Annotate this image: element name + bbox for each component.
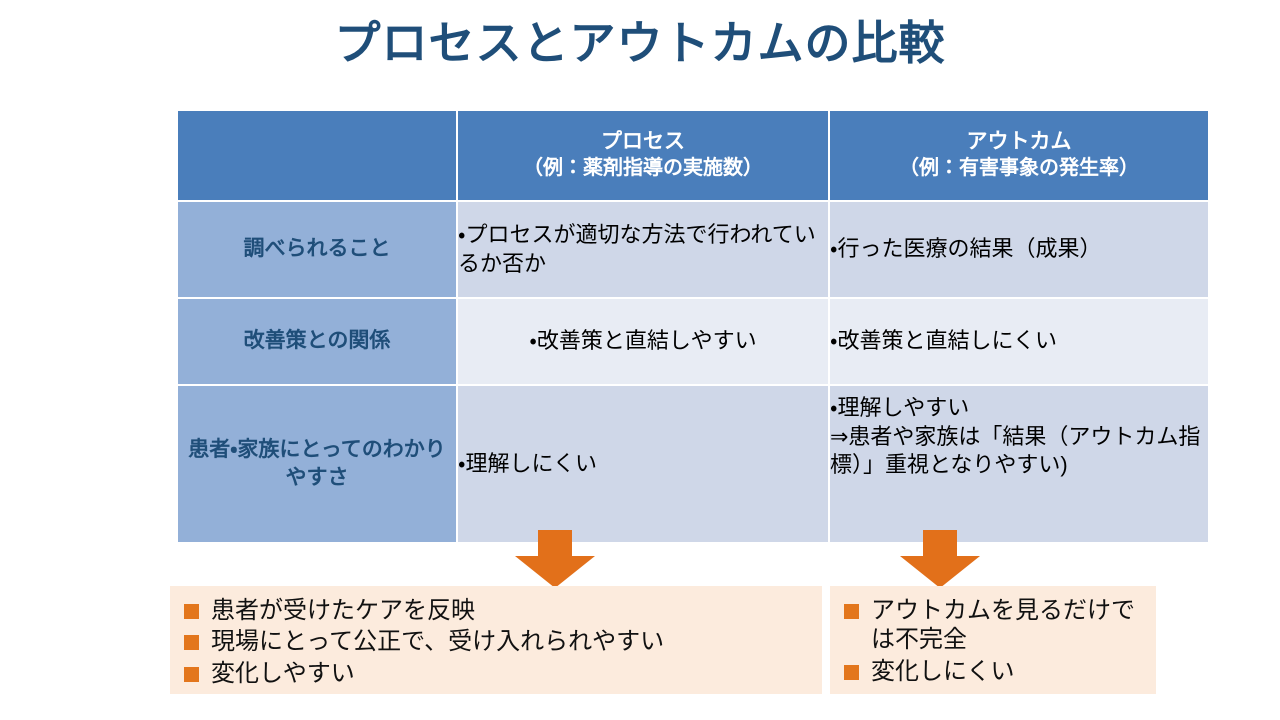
- table-row: 調べられること ・プロセスが適切な方法で行われているか否か ・行った医療の結果（…: [178, 200, 1208, 297]
- table-header-row: プロセス （例：薬剤指導の実施数） アウトカム （例：有害事象の発生率）: [178, 111, 1208, 200]
- table-cell-process-measurable: ・プロセスが適切な方法で行われているか否か: [458, 200, 830, 297]
- table-row: 患者・家族にとってのわかりやすさ ・理解しにくい ・理解しやすい ⇒患者や家族は…: [178, 384, 1208, 542]
- table-cell-outcome-improvement: ・改善策と直結しにくい: [830, 297, 1208, 384]
- table-header-outcome-sublabel: （例：有害事象の発生率）: [830, 156, 1208, 182]
- down-arrow-icon-outcome: [900, 530, 980, 588]
- table-row-header-improvement: 改善策との関係: [178, 297, 458, 384]
- table-header-corner: [178, 111, 458, 200]
- arrow-head: [515, 556, 595, 588]
- arrow-head: [900, 556, 980, 588]
- list-item: 変化しにくい: [844, 657, 1144, 686]
- list-item: アウトカムを見るだけでは不完全: [844, 596, 1144, 655]
- bullet-square-icon: [184, 667, 199, 682]
- summary-box-outcome: アウトカムを見るだけでは不完全 変化しにくい: [830, 586, 1156, 694]
- summary-right-item-2: 変化しにくい: [871, 657, 1144, 686]
- bullet-square-icon: [844, 604, 859, 619]
- table-header-outcome-label: アウトカム: [967, 130, 1072, 153]
- table-cell-outcome-measurable: ・行った医療の結果（成果）: [830, 200, 1208, 297]
- arrow-stem: [923, 530, 957, 556]
- summary-box-process: 患者が受けたケアを反映 現場にとって公正で、受け入れられやすい 変化しやすい: [170, 586, 822, 694]
- summary-left-item-1: 患者が受けたケアを反映: [211, 596, 810, 625]
- table-cell-process-clarity: ・理解しにくい: [458, 384, 830, 542]
- bullet-square-icon: [844, 665, 859, 680]
- comparison-table: プロセス （例：薬剤指導の実施数） アウトカム （例：有害事象の発生率） 調べら…: [178, 111, 1208, 542]
- list-item: 患者が受けたケアを反映: [184, 596, 810, 625]
- list-item: 変化しやすい: [184, 659, 810, 688]
- table-header-outcome: アウトカム （例：有害事象の発生率）: [830, 111, 1208, 200]
- table-header-process-label: プロセス: [601, 130, 685, 153]
- table-row: 改善策との関係 ・改善策と直結しやすい ・改善策と直結しにくい: [178, 297, 1208, 384]
- table-header-process-sublabel: （例：薬剤指導の実施数）: [458, 156, 828, 182]
- bullet-square-icon: [184, 604, 199, 619]
- table-row-header-measurable: 調べられること: [178, 200, 458, 297]
- list-item: 現場にとって公正で、受け入れられやすい: [184, 627, 810, 656]
- summary-left-item-2: 現場にとって公正で、受け入れられやすい: [211, 627, 810, 656]
- table-header-process: プロセス （例：薬剤指導の実施数）: [458, 111, 830, 200]
- arrow-stem: [538, 530, 572, 556]
- summary-left-item-3: 変化しやすい: [211, 659, 810, 688]
- down-arrow-icon-process: [515, 530, 595, 588]
- page-title: プロセスとアウトカムの比較: [0, 18, 1280, 69]
- bullet-square-icon: [184, 635, 199, 650]
- summary-right-item-1: アウトカムを見るだけでは不完全: [871, 596, 1144, 655]
- table-row-header-clarity: 患者・家族にとってのわかりやすさ: [178, 384, 458, 542]
- table-cell-process-improvement: ・改善策と直結しやすい: [458, 297, 830, 384]
- table-cell-outcome-clarity: ・理解しやすい ⇒患者や家族は「結果（アウトカム指標）」重視となりやすい): [830, 384, 1208, 542]
